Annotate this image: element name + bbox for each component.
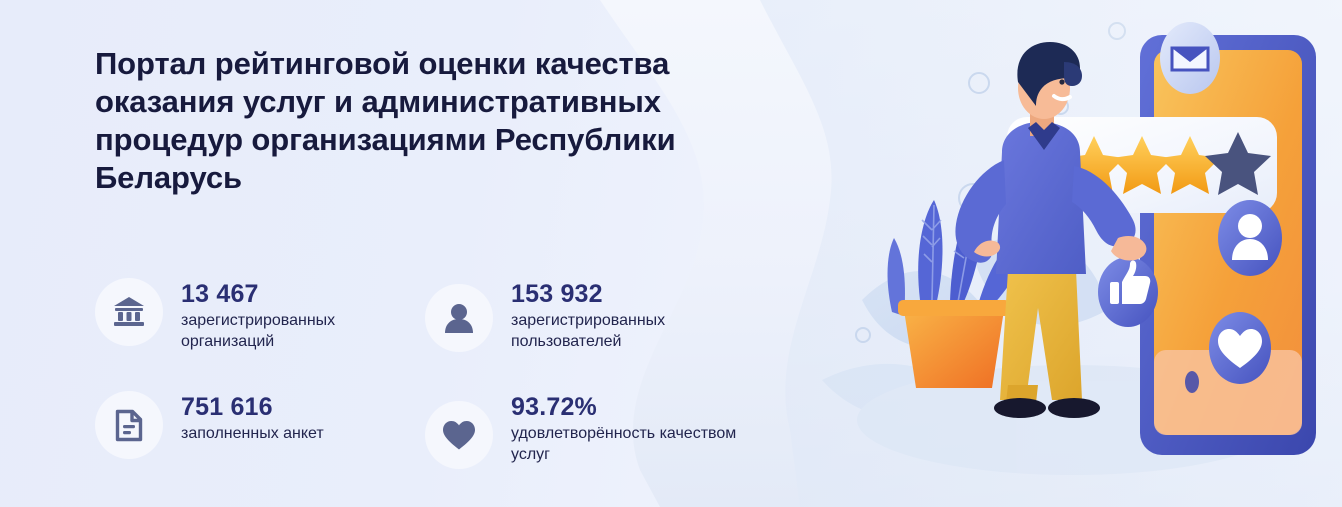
badge-heart [1209, 312, 1271, 384]
stat-value: 751 616 [181, 392, 324, 422]
document-icon [95, 391, 163, 459]
man-rating-stars-illustration [822, 0, 1342, 507]
badge-envelope [1160, 22, 1220, 94]
stat-registered-organizations: 13 467 зарегистрированных организаций [95, 278, 425, 391]
stat-body: 93.72% удовлетворённость качеством услуг [511, 391, 755, 465]
stat-body: 153 932 зарегистрированных пользователей [511, 278, 755, 352]
stat-label: заполненных анкет [181, 423, 324, 444]
stat-label: зарегистрированных организаций [181, 310, 425, 352]
badge-thumbs-up [1098, 257, 1158, 327]
stat-value: 93.72% [511, 392, 755, 422]
statistics-grid: 13 467 зарегистрированных организаций 15… [95, 278, 795, 469]
user-icon-glyph [445, 303, 473, 333]
user-icon [425, 284, 493, 352]
stat-label: зарегистрированных пользователей [511, 310, 755, 352]
stat-satisfaction: 93.72% удовлетворённость качеством услуг [425, 391, 755, 469]
hero-banner: Портал рейтинговой оценки качества оказа… [0, 0, 1342, 507]
bank-icon-glyph [113, 297, 145, 327]
stat-label: удовлетворённость качеством услуг [511, 423, 755, 465]
bank-icon [95, 278, 163, 346]
badge-user [1218, 200, 1282, 276]
heart-icon [425, 401, 493, 469]
heart-icon-glyph [443, 421, 475, 450]
stat-registered-users: 153 932 зарегистрированных пользователей [425, 278, 755, 391]
stat-filled-forms: 751 616 заполненных анкет [95, 391, 425, 469]
page-title: Портал рейтинговой оценки качества оказа… [95, 45, 795, 197]
stat-body: 13 467 зарегистрированных организаций [181, 278, 425, 352]
stat-body: 751 616 заполненных анкет [181, 391, 324, 444]
document-icon-glyph [115, 409, 143, 442]
stat-value: 153 932 [511, 279, 755, 309]
stat-value: 13 467 [181, 279, 425, 309]
